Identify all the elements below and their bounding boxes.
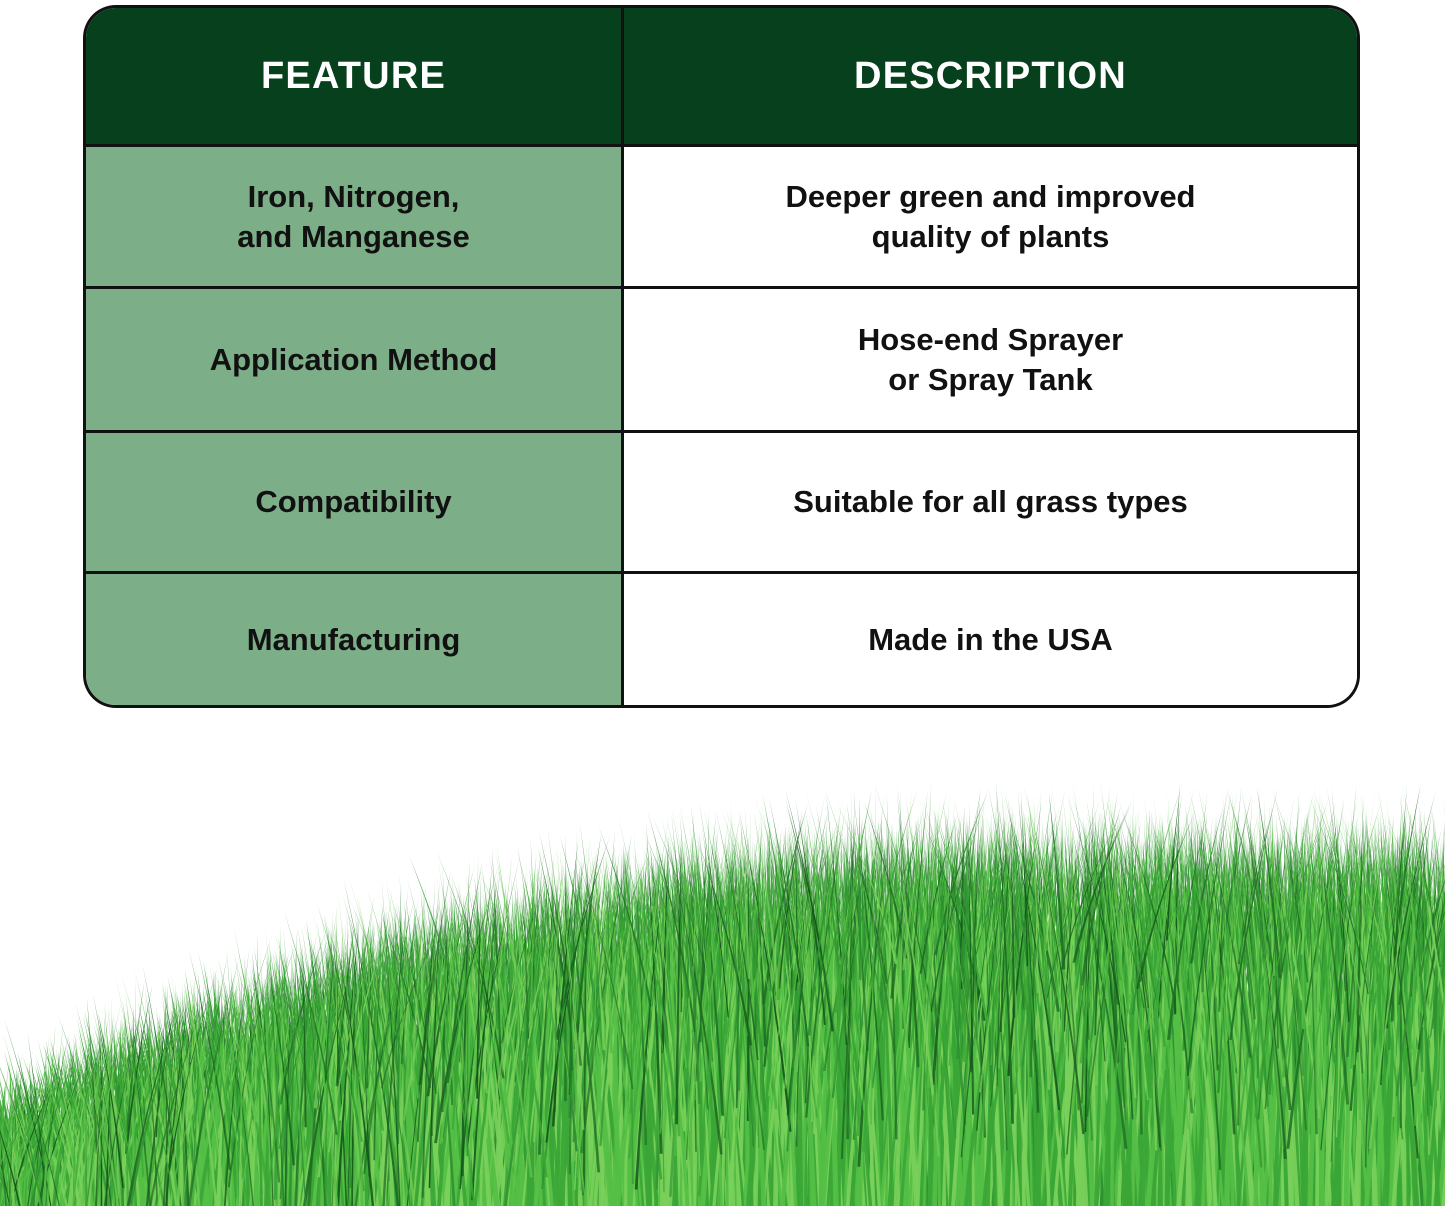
cell-description: Deeper green and improved quality of pla… — [624, 144, 1357, 286]
cell-feature-text: Application Method — [210, 340, 498, 380]
cell-feature-line-1: Compatibility — [255, 482, 451, 522]
cell-description-line-1: Suitable for all grass types — [793, 482, 1188, 522]
cell-description-line-1: Hose-end Sprayer — [858, 320, 1123, 360]
cell-description: Suitable for all grass types — [624, 430, 1357, 571]
cell-feature: Compatibility — [86, 430, 624, 571]
cell-feature-line-1: Iron, Nitrogen, — [237, 177, 470, 217]
table-row: Application Method Hose-end Sprayer or S… — [86, 286, 1357, 430]
cell-description-line-1: Made in the USA — [868, 620, 1113, 660]
cell-feature-line-2: and Manganese — [237, 217, 470, 257]
grass-field-image — [0, 760, 1445, 1206]
cell-description-text: Deeper green and improved quality of pla… — [785, 177, 1195, 256]
cell-feature-text: Compatibility — [255, 482, 451, 522]
feature-description-table: FEATURE DESCRIPTION Iron, Nitrogen, and … — [86, 8, 1357, 705]
column-header-feature-label: FEATURE — [261, 55, 446, 98]
column-header-feature: FEATURE — [86, 8, 624, 144]
cell-feature-line-1: Manufacturing — [247, 620, 461, 660]
column-header-description: DESCRIPTION — [624, 8, 1357, 144]
cell-feature-text: Manufacturing — [247, 620, 461, 660]
cell-description-text: Hose-end Sprayer or Spray Tank — [858, 320, 1123, 399]
cell-feature: Iron, Nitrogen, and Manganese — [86, 144, 624, 286]
cell-description: Hose-end Sprayer or Spray Tank — [624, 286, 1357, 430]
column-header-description-label: DESCRIPTION — [854, 55, 1127, 98]
grass-field-illustration — [0, 760, 1445, 1206]
table-header-row: FEATURE DESCRIPTION — [86, 8, 1357, 144]
cell-feature: Application Method — [86, 286, 624, 430]
table-row: Manufacturing Made in the USA — [86, 571, 1357, 705]
cell-description-text: Made in the USA — [868, 620, 1113, 660]
table-row: Compatibility Suitable for all grass typ… — [86, 430, 1357, 571]
cell-description-line-1: Deeper green and improved — [785, 177, 1195, 217]
cell-feature-line-1: Application Method — [210, 340, 498, 380]
cell-feature-text: Iron, Nitrogen, and Manganese — [237, 177, 470, 256]
table-row: Iron, Nitrogen, and Manganese Deeper gre… — [86, 144, 1357, 286]
cell-description-line-2: quality of plants — [785, 217, 1195, 257]
cell-description-line-2: or Spray Tank — [858, 360, 1123, 400]
cell-feature: Manufacturing — [86, 571, 624, 705]
cell-description-text: Suitable for all grass types — [793, 482, 1188, 522]
cell-description: Made in the USA — [624, 571, 1357, 705]
